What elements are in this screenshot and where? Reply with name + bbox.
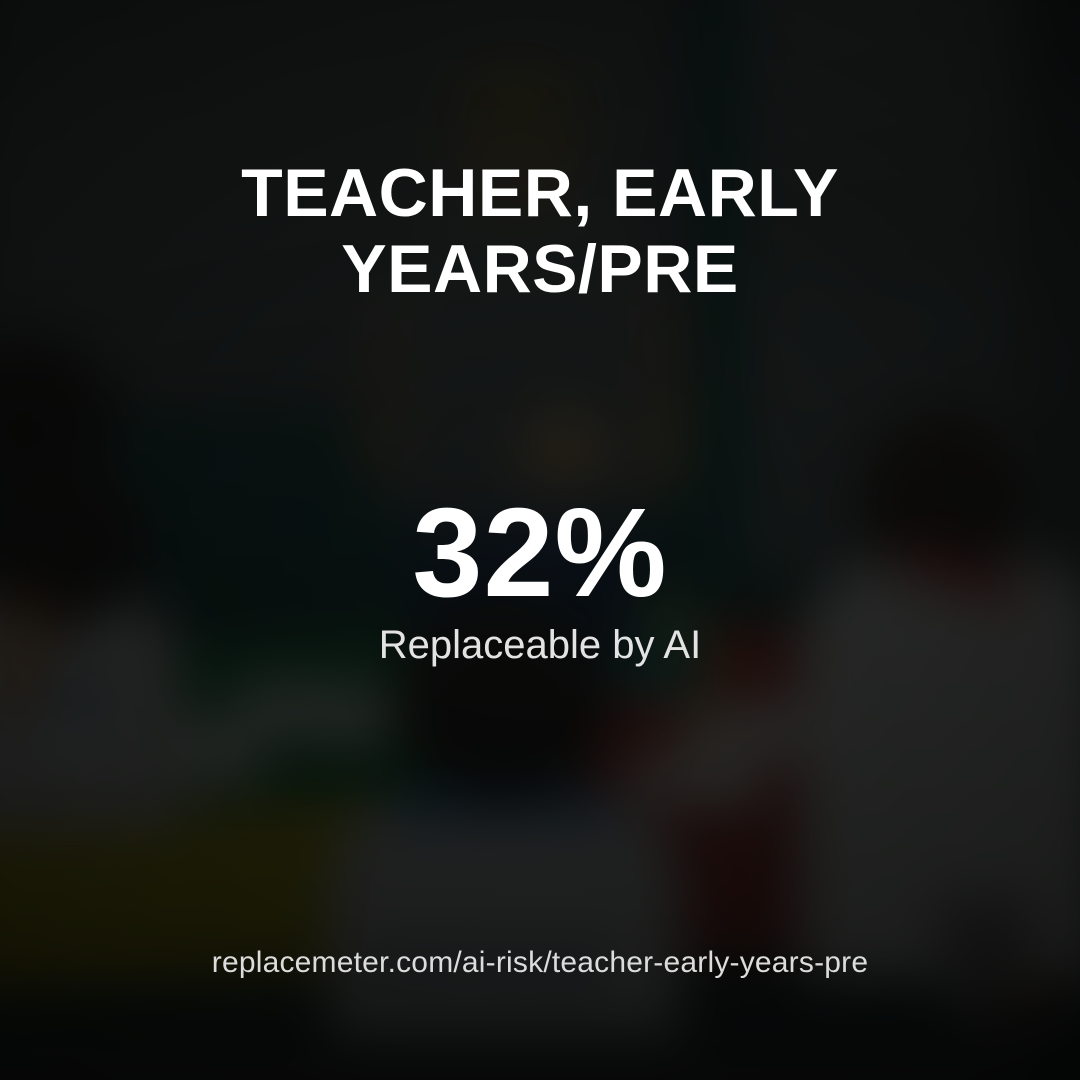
social-share-card: TEACHER, EARLY YEARS/PRE 32% Replaceable… xyxy=(0,0,1080,1080)
replaceability-percentage: 32% xyxy=(0,490,1080,616)
job-title-heading: TEACHER, EARLY YEARS/PRE xyxy=(90,155,990,307)
replaceability-label: Replaceable by AI xyxy=(0,622,1080,668)
source-url[interactable]: replacemeter.com/ai-risk/teacher-early-y… xyxy=(0,946,1080,980)
card-content: TEACHER, EARLY YEARS/PRE 32% Replaceable… xyxy=(0,0,1080,1080)
ai-risk-stat-block: 32% Replaceable by AI xyxy=(0,490,1080,668)
